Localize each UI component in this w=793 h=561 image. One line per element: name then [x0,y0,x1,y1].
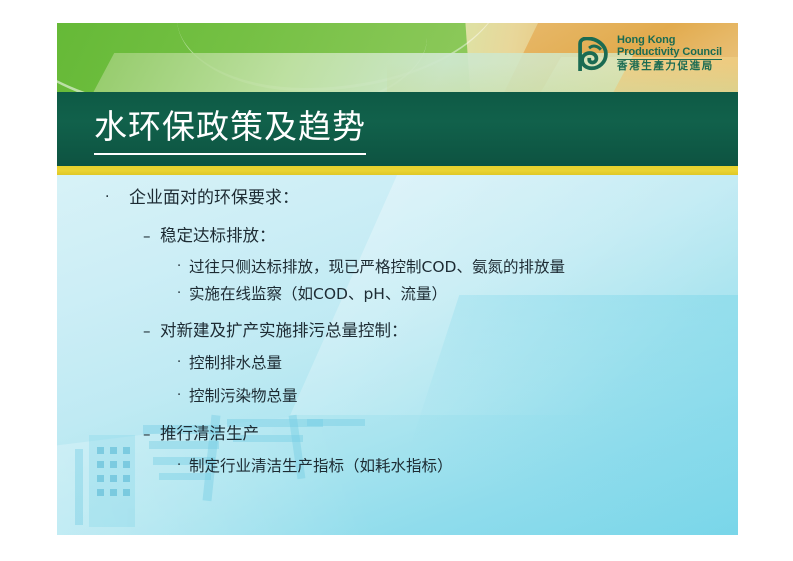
accent-stripe [57,166,738,175]
slide-body: · 企业面对的环保要求： – 稳定达标排放： · 过往只侧达标排放，现已严格控制… [57,175,738,535]
logo-line-2: Productivity Council [617,47,722,59]
bullet-item-level3: · 过往只侧达标排放，现已严格控制COD、氨氮的排放量 [177,259,565,276]
bullet-text: 企业面对的环保要求： [129,189,299,208]
bullet-item-level2: – 对新建及扩产实施排污总量控制： [143,322,408,340]
bullet-text: 稳定达标排放： [160,227,276,245]
bullet-text: 过往只侧达标排放，现已严格控制COD、氨氮的排放量 [189,259,565,276]
pc-monogram-icon [576,37,610,71]
bullet-marker: · [177,458,189,473]
bullet-marker: · [177,259,189,274]
bullet-marker: – [143,322,160,340]
background-sweep-2 [375,295,738,535]
logo-line-1: Hong Kong [617,35,722,47]
presentation-slide: Hong Kong Productivity Council 香港生產力促進局 … [57,23,738,535]
bullet-text: 推行清洁生产 [160,425,259,443]
bullet-item-level3: · 控制排水总量 [177,355,282,372]
logo-chinese-name: 香港生產力促進局 [617,61,722,72]
logo-wordmark: Hong Kong Productivity Council 香港生產力促進局 [617,35,722,72]
bullet-marker: · [177,286,189,301]
bullet-item-level1: · 企业面对的环保要求： [105,189,299,208]
bullet-text: 控制污染物总量 [189,388,298,405]
bullet-text: 对新建及扩产实施排污总量控制： [160,322,408,340]
bullet-marker: – [143,425,160,443]
bullet-marker: · [177,355,189,370]
bullet-text: 实施在线监察（如COD、pH、流量） [189,286,447,303]
title-banner: 水环保政策及趋势 [57,92,738,166]
bullet-item-level2: – 稳定达标排放： [143,227,276,245]
bullet-item-level3: · 控制污染物总量 [177,388,298,405]
bullet-item-level3: · 实施在线监察（如COD、pH、流量） [177,286,447,303]
bullet-marker: · [105,189,129,205]
bullet-marker: · [177,388,189,403]
bullet-item-level3: · 制定行业清洁生产指标（如耗水指标） [177,458,453,475]
bullet-marker: – [143,227,160,245]
bullet-item-level2: – 推行清洁生产 [143,425,259,443]
slide-title: 水环保政策及趋势 [94,100,366,155]
bullet-text: 控制排水总量 [189,355,282,372]
bullet-text: 制定行业清洁生产指标（如耗水指标） [189,458,453,475]
hkpc-logo: Hong Kong Productivity Council 香港生產力促進局 [576,35,722,72]
